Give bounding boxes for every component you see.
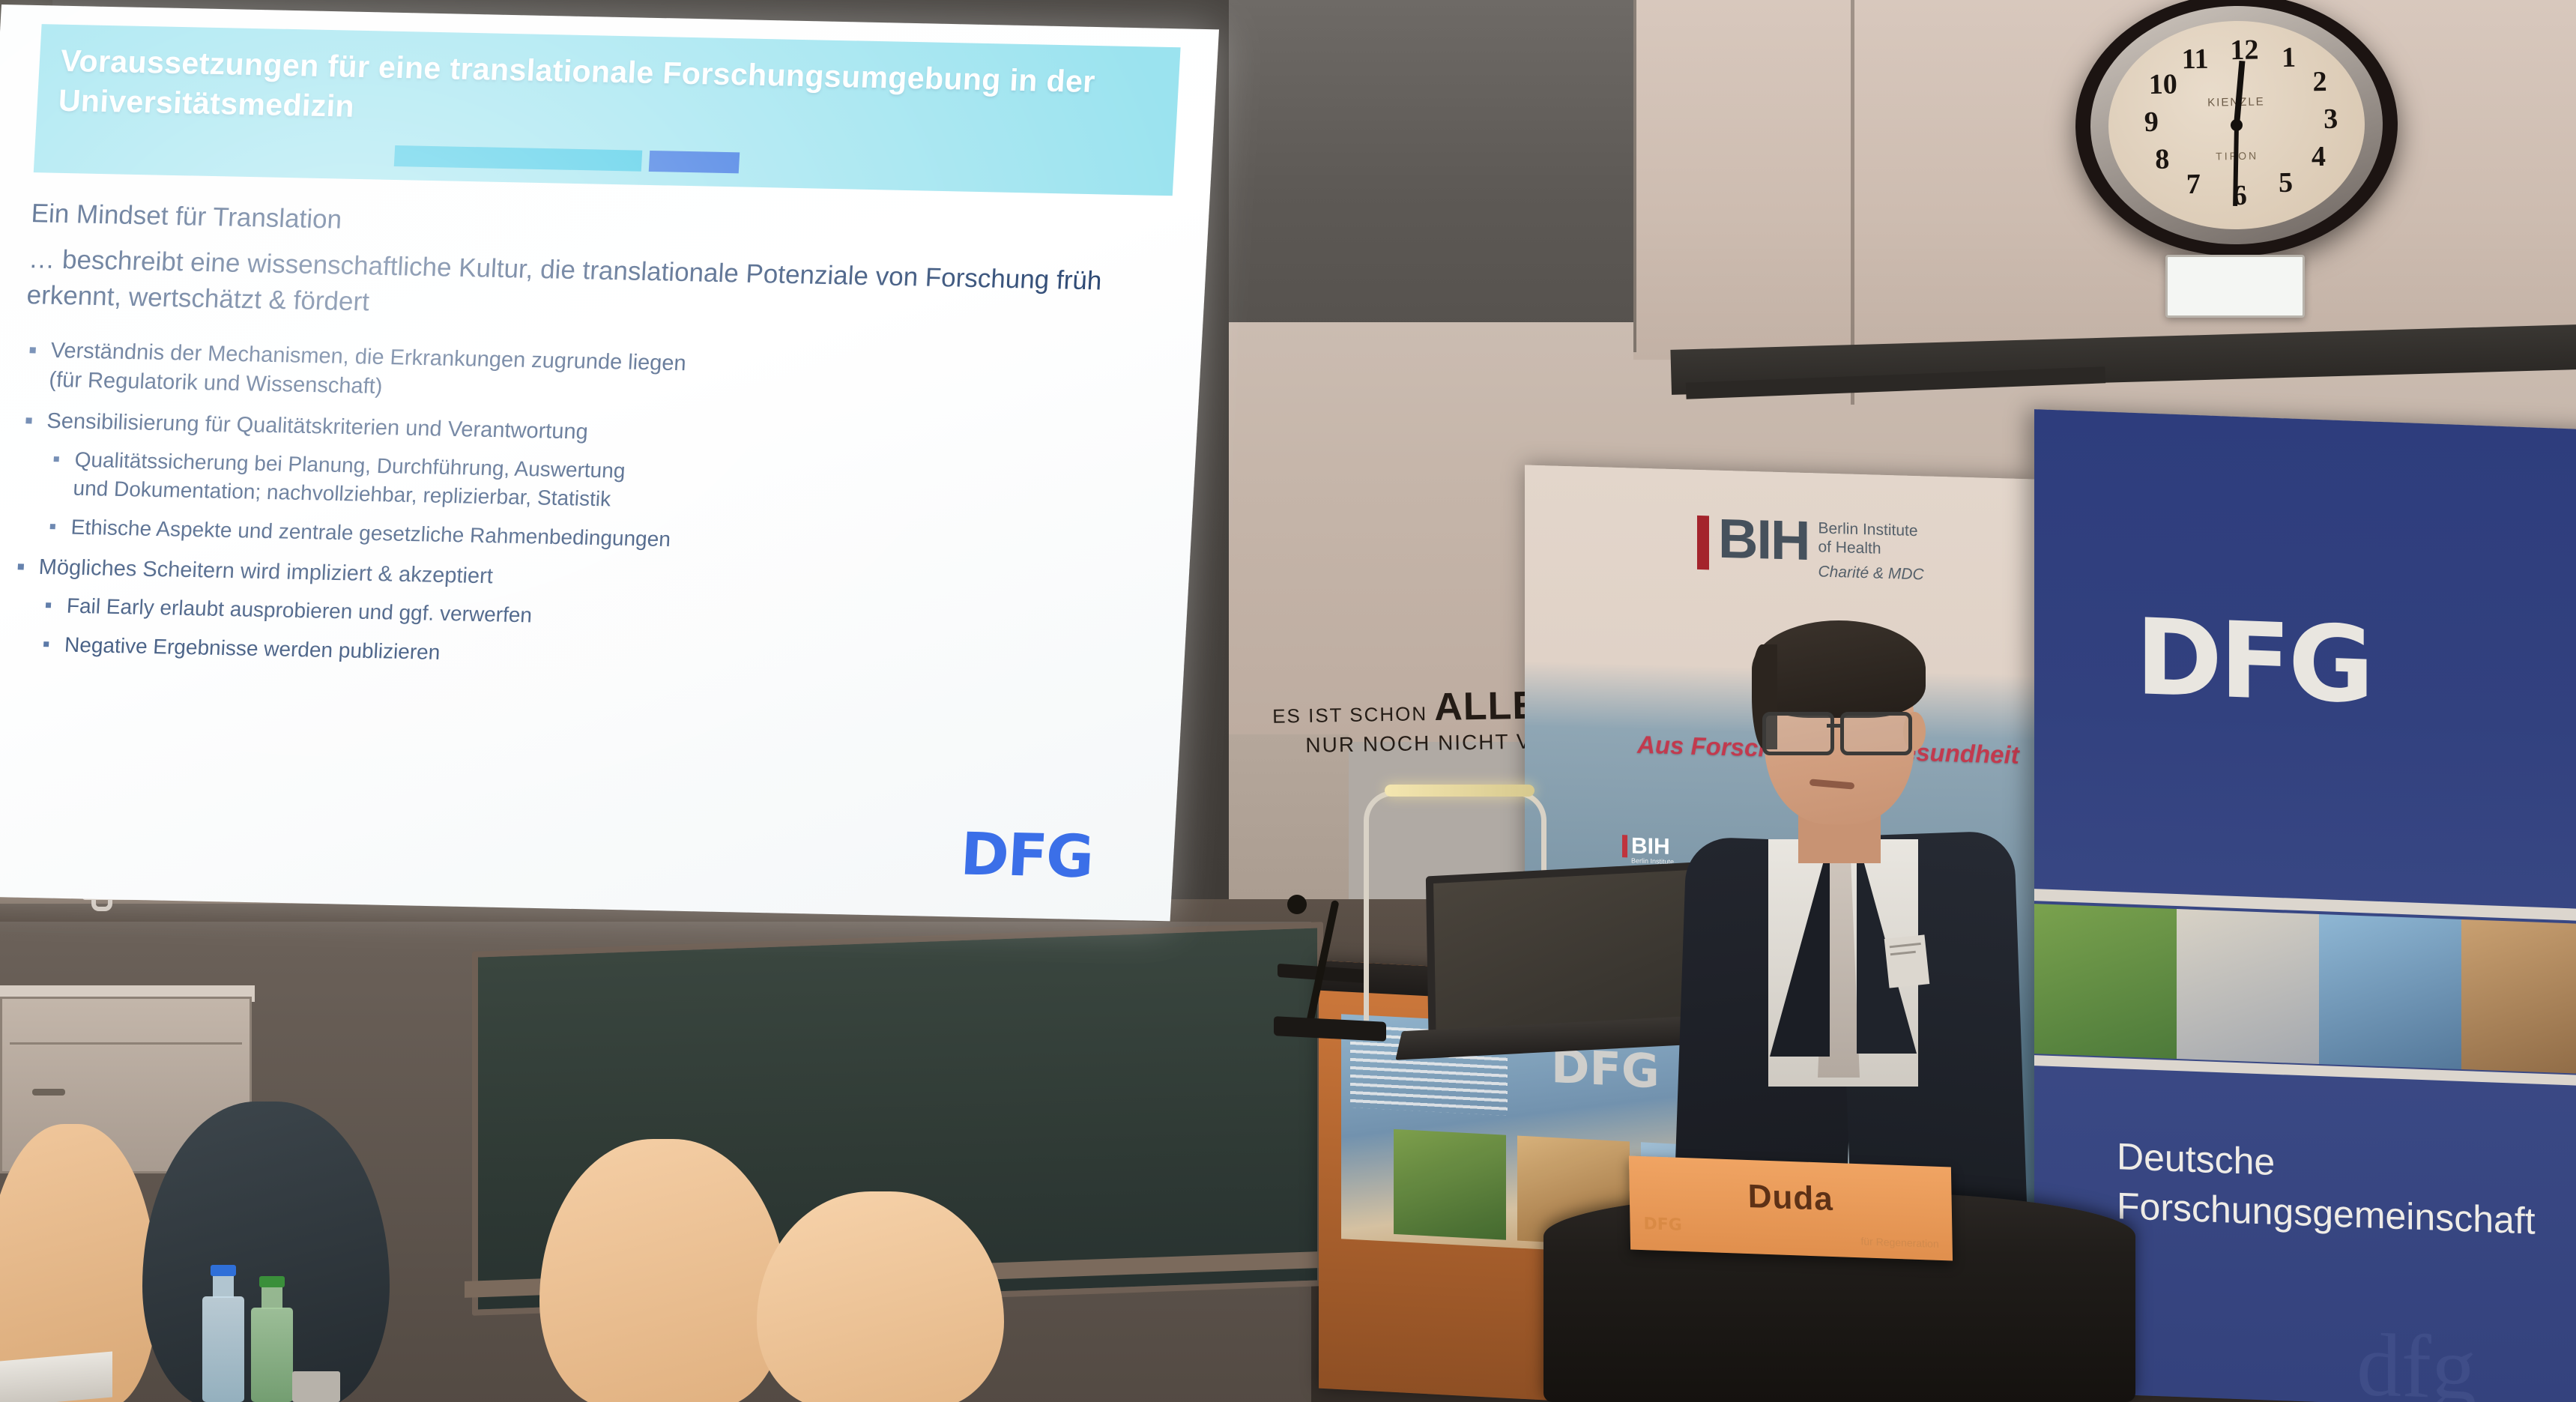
sub-bullet-item: Qualitätssicherung bei Planung, Durchfüh… — [43, 445, 1150, 525]
sub-bullet-text: Negative Ergebnisse werden publizieren — [64, 633, 441, 664]
dfg-photo-3 — [2319, 914, 2461, 1069]
bih-accent-bar-icon — [1622, 835, 1627, 857]
bih-small-text: BIH Berlin Institute — [1631, 835, 1674, 866]
sub-bullet-marker-icon — [54, 456, 59, 462]
microphone-head-icon — [1287, 895, 1307, 914]
eyeglass-lens-right — [1840, 712, 1912, 755]
sub-bullet-marker-icon — [43, 641, 49, 647]
bullet-marker-icon — [18, 563, 24, 569]
microphone-gooseneck — [1305, 900, 1339, 1026]
decor-block-blue — [649, 151, 740, 173]
chair[interactable] — [757, 1191, 1004, 1402]
wall-sign — [2165, 255, 2305, 318]
badge-line-2 — [1890, 951, 1916, 956]
chair[interactable] — [539, 1139, 787, 1402]
laptop[interactable] — [1426, 862, 1699, 1064]
sub-bullet-list: Fail Early erlaubt ausprobieren und ggf.… — [34, 591, 1142, 681]
slide-bullet-list: Verständnis der Mechanismen, die Erkrank… — [7, 336, 1156, 681]
presentation-slide: Voraussetzungen für eine translationale … — [0, 4, 1219, 921]
bullet-item: Verständnis der Mechanismen, die Erkrank… — [21, 336, 1155, 417]
bih-logo-subtitle: Berlin Institute of Health Charité & MDC — [1818, 519, 1923, 584]
eyeglass-lens-left — [1762, 712, 1834, 755]
dfg-banner-photo-strip — [2034, 904, 2576, 1075]
sub-bullet-marker-icon — [46, 602, 51, 608]
dfg-photo-1 — [2034, 904, 2177, 1059]
bullet-item: Sensibilisierung für Qualitätskriterien … — [13, 406, 1152, 563]
water-bottle[interactable] — [202, 1296, 244, 1402]
bih-logo: BIH Berlin Institute of Health Charité &… — [1697, 511, 1924, 584]
bullet-text: Mögliches Scheitern wird impliziert & ak… — [38, 555, 494, 588]
sub-bullet-marker-icon — [50, 524, 55, 529]
bullet-text: Sensibilisierung für Qualitätskriterien … — [46, 409, 589, 444]
dfg-watermark: dfg — [2356, 1313, 2476, 1402]
bih-logo-text: BIH — [1718, 512, 1809, 568]
water-bottle[interactable] — [251, 1308, 293, 1402]
slide-dfg-logo: DFG — [959, 821, 1095, 891]
projection-screen: Voraussetzungen für eine translationale … — [0, 0, 1229, 937]
clock-center-pin — [2231, 119, 2243, 131]
paper-sheet[interactable] — [0, 1351, 112, 1402]
decor-block-light-1 — [746, 153, 838, 175]
badge-line-1 — [1890, 943, 1921, 948]
sub-bullet-text: Ethische Aspekte und zentrale gesetzlich… — [70, 516, 671, 551]
clock-number: 2 — [2312, 65, 2327, 98]
clock-number: 7 — [2186, 167, 2201, 200]
dfg-photo-2 — [2177, 909, 2319, 1064]
nameplate: Duda DFG für Regeneration — [1629, 1155, 1953, 1260]
bih-accent-bar-icon — [1697, 516, 1709, 569]
sub-bullet-text: Fail Early erlaubt ausprobieren und ggf.… — [66, 594, 533, 627]
slide-title: Voraussetzungen für eine translationale … — [58, 41, 1156, 143]
clock-number: 1 — [2282, 40, 2297, 73]
wall-quote-prefix: ES IST SCHON — [1272, 702, 1428, 728]
cup[interactable] — [292, 1371, 340, 1402]
chair-shell — [757, 1191, 1004, 1402]
name-badge — [1884, 934, 1930, 988]
bih-sub-3: Charité & MDC — [1818, 562, 1923, 584]
chair-shell — [539, 1139, 787, 1402]
hair — [1752, 620, 1926, 718]
sub-bullet-list: Qualitätssicherung bei Planung, Durchfüh… — [40, 445, 1150, 563]
cabinet-handle[interactable] — [32, 1089, 65, 1096]
dfg-banner-logo: DFG — [2135, 596, 2371, 728]
bullet-marker-icon — [25, 417, 31, 423]
nameplate-dfg-logo: DFG — [1643, 1215, 1682, 1235]
clock-number: 9 — [2144, 106, 2159, 139]
wall-quote-line-1: ES IST SCHON ALLES — [1213, 683, 1566, 734]
clock-hour-hand — [2234, 61, 2245, 125]
dfg-photo-4 — [2461, 919, 2576, 1075]
bih-small-main: BIH — [1631, 835, 1674, 858]
clock-number: 11 — [2181, 42, 2209, 76]
decor-block-light-2 — [844, 154, 920, 177]
slide-lead-secondary: … beschreibt eine wissenschaftliche Kult… — [25, 241, 1161, 336]
lectern-panel-photo-1 — [1394, 1129, 1506, 1240]
wall-quote: ES IST SCHON ALLES NUR NOCH NICHT VON — [1213, 683, 1567, 759]
dfg-banner-name: Deutsche Forschungsgemeinschaft — [2117, 1131, 2536, 1245]
decor-block-light-3 — [926, 157, 1018, 179]
lecture-hall-scene: Voraussetzungen für eine translationale … — [0, 0, 2576, 1402]
slide-body: Ein Mindset für Translation … beschreibt… — [6, 196, 1164, 693]
bullet-marker-icon — [29, 347, 35, 353]
wall-quote-line-2: NUR NOCH NICHT VON — [1214, 729, 1566, 759]
cabinet-seam — [10, 1042, 242, 1045]
wall-seam-secondary — [1633, 0, 1636, 352]
decor-block-cyan — [394, 145, 643, 172]
bullet-item: Mögliches Scheitern wird impliziert & ak… — [7, 552, 1144, 681]
clock-number: 5 — [2279, 166, 2294, 199]
bih-logo-small: BIH Berlin Institute — [1622, 835, 1674, 866]
lamp-tube — [1385, 785, 1535, 797]
bih-sub-2: of Health — [1818, 537, 1923, 559]
clock-number: 10 — [2148, 68, 2177, 102]
eyeglasses-icon — [1762, 712, 1926, 752]
wall-seam — [1851, 0, 1854, 405]
slide-title-band: Voraussetzungen für eine translationale … — [34, 24, 1181, 196]
clock-number: 3 — [2323, 103, 2338, 136]
slide-title-decor — [394, 145, 1219, 184]
nameplate-tagline: für Regeneration — [1860, 1235, 1939, 1250]
